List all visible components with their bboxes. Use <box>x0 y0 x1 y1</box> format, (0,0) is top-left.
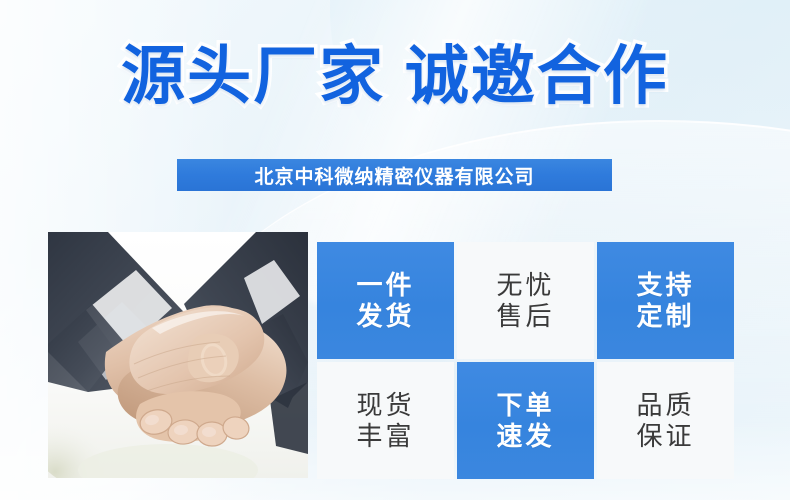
feature-cell-4: 现货 丰富 <box>317 362 454 479</box>
feature-cell-2: 无忧 售后 <box>457 242 594 359</box>
company-name-label: 北京中科微纳精密仪器有限公司 <box>254 162 534 189</box>
feature-cell-4-line1: 现货 <box>356 390 414 421</box>
feature-cell-5: 下单 速发 <box>457 362 594 479</box>
feature-cell-3-line1: 支持 <box>636 270 694 301</box>
feature-cell-2-line2: 售后 <box>496 301 554 332</box>
handshake-illustration-icon <box>48 232 308 478</box>
feature-cell-3: 支持 定制 <box>597 242 734 359</box>
feature-grid: 一件 发货 无忧 售后 支持 定制 现货 丰富 下单 速发 品质 保证 <box>317 242 730 479</box>
company-name-bar: 北京中科微纳精密仪器有限公司 <box>177 159 612 191</box>
feature-cell-6: 品质 保证 <box>597 362 734 479</box>
feature-cell-5-line1: 下单 <box>496 390 554 421</box>
feature-cell-2-line1: 无忧 <box>496 270 554 301</box>
handshake-photo <box>48 232 308 478</box>
banner-headline: 源头厂家 诚邀合作 <box>0 40 790 114</box>
feature-cell-4-line2: 丰富 <box>356 421 414 452</box>
feature-cell-6-line1: 品质 <box>636 390 694 421</box>
feature-cell-3-line2: 定制 <box>636 301 694 332</box>
feature-cell-1-line2: 发货 <box>356 301 414 332</box>
feature-cell-6-line2: 保证 <box>636 421 694 452</box>
promo-banner: 源头厂家 诚邀合作 北京中科微纳精密仪器有限公司 <box>0 0 790 500</box>
feature-cell-1: 一件 发货 <box>317 242 454 359</box>
feature-cell-1-line1: 一件 <box>356 270 414 301</box>
feature-cell-5-line2: 速发 <box>496 421 554 452</box>
